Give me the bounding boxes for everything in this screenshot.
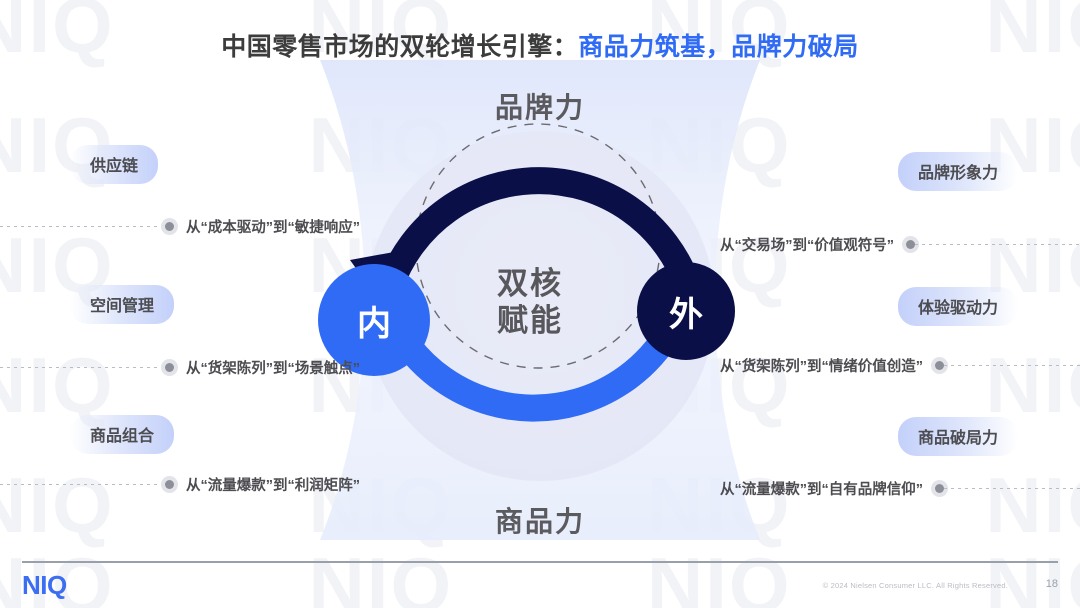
left-item-2: 商品组合 — [0, 415, 360, 454]
core-label-line1: 双核 — [430, 266, 630, 303]
right-leader-line-0 — [915, 244, 1080, 245]
page-number: 18 — [1046, 578, 1058, 590]
right-pill-1[interactable]: 体验驱动力 — [898, 287, 1018, 326]
left-leader-line-1 — [0, 367, 165, 368]
node-external-label: 外 — [669, 287, 703, 336]
footer-divider — [22, 561, 1058, 563]
left-pill-2[interactable]: 商品组合 — [70, 415, 174, 454]
left-pill-0[interactable]: 供应链 — [70, 145, 158, 184]
right-leader-line-1 — [944, 365, 1080, 366]
left-caption-1: 从“货架陈列”到“场景触点” — [0, 357, 360, 378]
right-bullet-dot-2 — [935, 484, 944, 493]
node-internal-label: 内 — [357, 296, 391, 345]
copyright-text: © 2024 Nielsen Consumer LLC. All Rights … — [823, 581, 1008, 590]
niq-logo: NIQ — [22, 570, 67, 601]
right-pill-wrap-2: 商品破局力 — [720, 417, 1080, 456]
right-pill-wrap-1: 体验驱动力 — [720, 287, 1080, 326]
left-column: 供应链 从“成本驱动”到“敏捷响应” 空间管理 从“货架陈列”到“场景触点” 商… — [0, 0, 360, 608]
right-item-2: 商品破局力 — [720, 417, 1080, 456]
right-column: 品牌形象力 从“交易场”到“价值观符号” 体验驱动力 从“货架陈列”到“情绪价值… — [720, 0, 1080, 608]
right-pill-0[interactable]: 品牌形象力 — [898, 152, 1018, 191]
left-bullet-dot-2 — [165, 480, 174, 489]
right-bullet-dot-1 — [935, 361, 944, 370]
right-caption-text-2: 从“流量爆款”到“自有品牌信仰” — [720, 478, 923, 499]
right-caption-text-0: 从“交易场”到“价值观符号” — [720, 234, 894, 255]
right-pill-wrap-0: 品牌形象力 — [720, 152, 1080, 191]
left-bullet-dot-0 — [165, 222, 174, 231]
left-caption-text-0: 从“成本驱动”到“敏捷响应” — [186, 216, 360, 237]
right-item-0: 品牌形象力 — [720, 152, 1080, 191]
core-label-line2: 赋能 — [430, 303, 630, 340]
left-item-0: 供应链 — [0, 145, 360, 184]
left-leader-line-0 — [0, 226, 165, 227]
right-caption-text-1: 从“货架陈列”到“情绪价值创造” — [720, 355, 923, 376]
left-pill-1[interactable]: 空间管理 — [70, 285, 174, 324]
left-caption-text-1: 从“货架陈列”到“场景触点” — [186, 357, 360, 378]
left-item-1: 空间管理 — [0, 285, 360, 324]
right-leader-line-2 — [944, 488, 1080, 489]
left-leader-line-2 — [0, 484, 165, 485]
left-bullet-dot-1 — [165, 363, 174, 372]
right-bullet-dot-0 — [906, 240, 915, 249]
right-caption-2: 从“流量爆款”到“自有品牌信仰” — [720, 478, 1080, 499]
right-item-1: 体验驱动力 — [720, 287, 1080, 326]
left-caption-text-2: 从“流量爆款”到“利润矩阵” — [186, 474, 360, 495]
left-pill-wrap-0: 供应链 — [0, 145, 360, 184]
left-caption-2: 从“流量爆款”到“利润矩阵” — [0, 474, 360, 495]
left-pill-wrap-1: 空间管理 — [0, 285, 360, 324]
core-label: 双核 赋能 — [430, 266, 630, 339]
right-caption-1: 从“货架陈列”到“情绪价值创造” — [720, 355, 1080, 376]
left-pill-wrap-2: 商品组合 — [0, 415, 360, 454]
right-pill-2[interactable]: 商品破局力 — [898, 417, 1018, 456]
left-caption-0: 从“成本驱动”到“敏捷响应” — [0, 216, 360, 237]
right-caption-0: 从“交易场”到“价值观符号” — [720, 234, 1080, 255]
